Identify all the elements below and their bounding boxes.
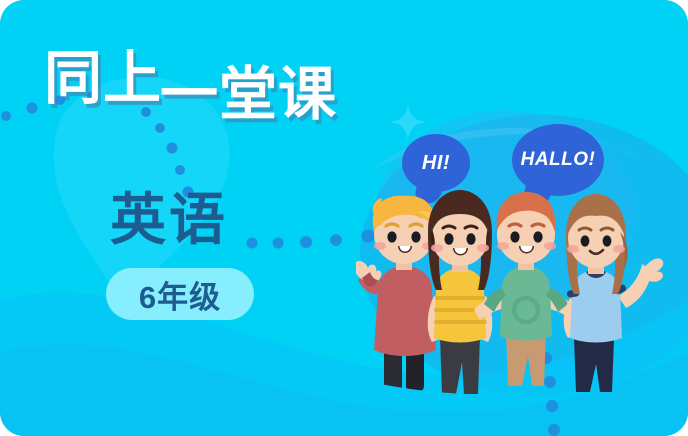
page-title-part-b: 一堂课 xyxy=(160,66,337,124)
grade-badge-label: 6年级 xyxy=(139,272,221,317)
grade-badge[interactable]: 6年级 xyxy=(106,268,254,320)
course-banner-card: 同上一堂课 英语 6年级 HI! HALLO! xyxy=(0,0,688,436)
character-blond-boy xyxy=(356,196,436,392)
speech-bubble-hi-text: HI! xyxy=(422,152,450,175)
speech-bubble-hi: HI! xyxy=(402,134,470,192)
subject-title: 英语 xyxy=(110,192,228,248)
character-brunette-girl xyxy=(428,190,493,394)
page-title-part-a: 同上 xyxy=(44,50,162,108)
text-column: 同上一堂课 英语 6年级 xyxy=(0,0,360,436)
sparkle-icon xyxy=(390,104,426,140)
page-title: 同上一堂课 xyxy=(44,50,337,124)
character-brownhair-girl xyxy=(564,194,664,392)
children-illustration xyxy=(356,186,676,436)
speech-bubble-hallo-text: HALLO! xyxy=(521,149,596,171)
